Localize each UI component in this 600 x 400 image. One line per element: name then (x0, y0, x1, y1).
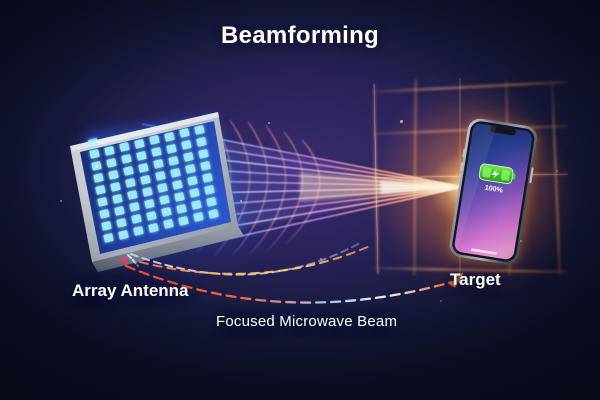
label-focused-microwave-beam: Focused Microwave Beam (216, 313, 397, 330)
beamforming-illustration: 100% (0, 0, 600, 400)
label-array-antenna: Array Antenna (72, 281, 189, 301)
label-target: Target (450, 270, 501, 290)
background-vignette (0, 0, 600, 400)
page-title: Beamforming (0, 22, 600, 50)
